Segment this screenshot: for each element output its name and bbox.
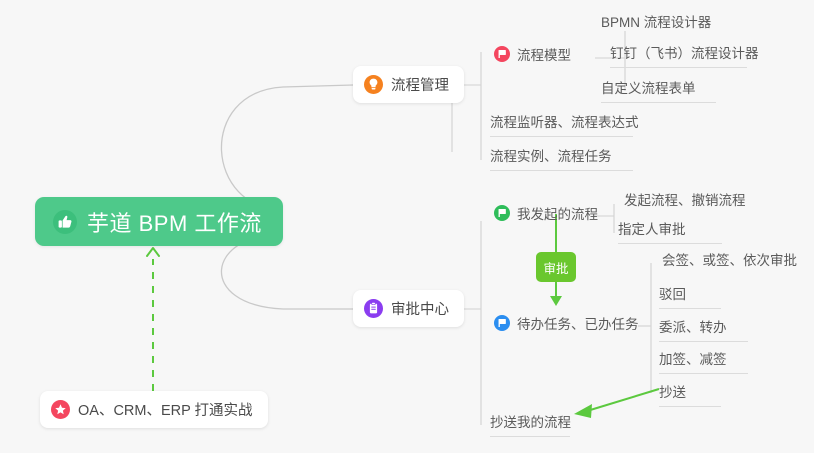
star-icon: [51, 400, 70, 419]
node-my-initiated[interactable]: 我发起的流程: [494, 203, 598, 223]
node-todo-done[interactable]: 待办任务、已办任务: [494, 313, 639, 333]
leaf-process-listener[interactable]: 流程监听器、流程表达式: [490, 111, 633, 137]
branch-node-process-management[interactable]: 流程管理: [353, 66, 464, 103]
callout-label: OA、CRM、ERP 打通实战: [78, 399, 253, 420]
thumbs-up-icon: [52, 209, 78, 235]
branch-label-approval-center: 审批中心: [391, 298, 449, 319]
leaf-countersign[interactable]: 会签、或签、依次审批: [662, 249, 797, 274]
branch-label-process-management: 流程管理: [391, 74, 449, 95]
callout-node-oa-crm-erp[interactable]: OA、CRM、ERP 打通实战: [40, 391, 268, 428]
leaf-cc-to-me[interactable]: 抄送我的流程: [490, 411, 570, 437]
node-process-model[interactable]: 流程模型: [494, 44, 571, 64]
leaf-start-cancel-process[interactable]: 发起流程、撤销流程: [624, 189, 746, 214]
clipboard-icon: [364, 299, 383, 318]
node-label-todo-done: 待办任务、已办任务: [517, 313, 639, 333]
leaf-dingtalk-designer[interactable]: 钉钉（飞书）流程设计器: [610, 42, 747, 68]
flag-red-icon: [494, 46, 510, 62]
root-node[interactable]: 芋道 BPM 工作流: [35, 197, 283, 246]
root-label: 芋道 BPM 工作流: [87, 206, 262, 238]
node-label-process-model: 流程模型: [517, 44, 571, 64]
leaf-add-remove-sign[interactable]: 加签、减签: [659, 348, 748, 374]
leaf-process-instance[interactable]: 流程实例、流程任务: [490, 145, 633, 171]
annotation-tag-approval: 审批: [536, 252, 576, 282]
leaf-bpmn-designer[interactable]: BPMN 流程设计器: [601, 11, 711, 36]
leaf-custom-form[interactable]: 自定义流程表单: [601, 77, 716, 103]
flag-green-icon: [494, 205, 510, 221]
node-label-my-initiated: 我发起的流程: [517, 203, 598, 223]
leaf-delegate-transfer[interactable]: 委派、转办: [659, 316, 748, 342]
mindmap-canvas: 芋道 BPM 工作流 流程管理 审批中心: [0, 0, 814, 453]
leaf-assigned-approver[interactable]: 指定人审批: [618, 218, 722, 244]
leaf-cc[interactable]: 抄送: [659, 381, 721, 407]
leaf-reject[interactable]: 驳回: [659, 283, 721, 309]
annotation-label: 审批: [543, 258, 568, 277]
lightbulb-icon: [364, 75, 383, 94]
branch-node-approval-center[interactable]: 审批中心: [353, 290, 464, 327]
flag-blue-icon: [494, 315, 510, 331]
